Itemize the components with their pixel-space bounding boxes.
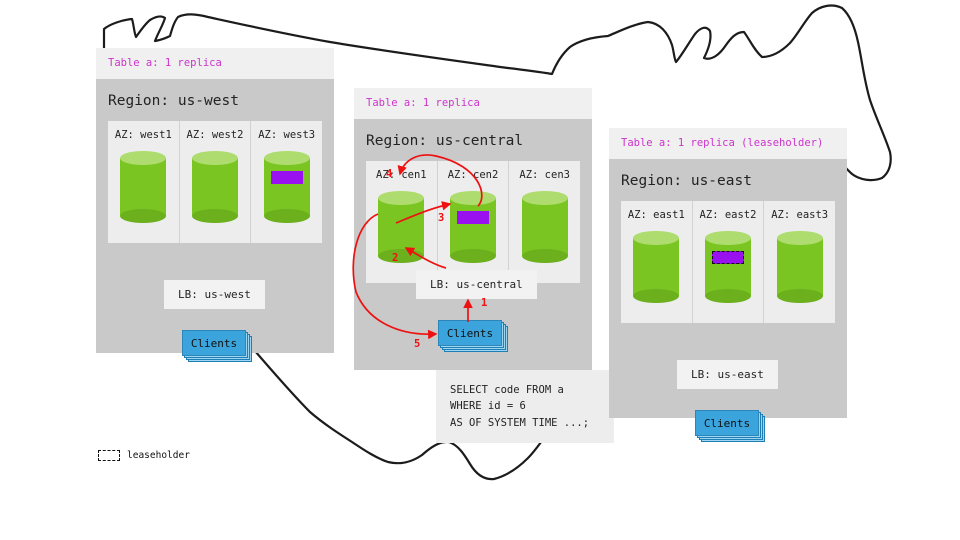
- lb-box-us-central[interactable]: LB: us-central: [416, 270, 537, 299]
- az-cell-east1[interactable]: AZ: east1: [621, 201, 693, 323]
- region-header-us-west: Table a: 1 replica: [96, 48, 334, 79]
- region-panel-us-east: Table a: 1 replica (leaseholder) Region:…: [609, 128, 847, 418]
- az-label-cen1: AZ: cen1: [376, 169, 427, 181]
- region-title-us-east: Region: us-east: [609, 159, 847, 201]
- replica-badge-cen2: [457, 211, 489, 224]
- az-cell-cen1[interactable]: AZ: cen1: [366, 161, 438, 283]
- region-header-us-east: Table a: 1 replica (leaseholder): [609, 128, 847, 159]
- region-header-us-central: Table a: 1 replica: [354, 88, 592, 119]
- leaseholder-badge-east2: [712, 251, 744, 264]
- node-cylinder-cen3[interactable]: [522, 191, 568, 263]
- flow-number-2: 2: [392, 252, 398, 264]
- az-cell-east3[interactable]: AZ: east3: [764, 201, 835, 323]
- node-cylinder-east1[interactable]: [633, 231, 679, 303]
- clients-label-us-central: Clients: [438, 320, 502, 346]
- legend-label: leaseholder: [127, 450, 190, 461]
- sql-query-box: SELECT code FROM a WHERE id = 6 AS OF SY…: [436, 370, 614, 443]
- az-label-cen3: AZ: cen3: [519, 169, 570, 181]
- az-strip-us-west: AZ: west1 AZ: west2 AZ: west3: [108, 121, 322, 243]
- flow-number-4: 4: [386, 168, 392, 180]
- clients-label-us-east: Clients: [695, 410, 759, 436]
- lb-box-us-east[interactable]: LB: us-east: [677, 360, 778, 389]
- legend-leaseholder: leaseholder: [98, 450, 190, 461]
- node-cylinder-east2[interactable]: [705, 231, 751, 303]
- region-panel-us-west: Table a: 1 replica Region: us-west AZ: w…: [96, 48, 334, 353]
- az-label-cen2: AZ: cen2: [448, 169, 499, 181]
- az-cell-east2[interactable]: AZ: east2: [693, 201, 765, 323]
- flow-number-3: 3: [438, 212, 444, 224]
- node-cylinder-west3[interactable]: [264, 151, 310, 223]
- az-label-east3: AZ: east3: [771, 209, 828, 221]
- node-cylinder-west1[interactable]: [120, 151, 166, 223]
- clients-us-central[interactable]: Clients: [438, 320, 502, 346]
- az-label-east2: AZ: east2: [700, 209, 757, 221]
- az-cell-west1[interactable]: AZ: west1: [108, 121, 180, 243]
- node-cylinder-cen2[interactable]: [450, 191, 496, 263]
- az-label-west1: AZ: west1: [115, 129, 172, 141]
- clients-label-us-west: Clients: [182, 330, 246, 356]
- az-strip-us-east: AZ: east1 AZ: east2 AZ: east3: [621, 201, 835, 323]
- flow-number-1: 1: [481, 297, 487, 309]
- region-title-us-west: Region: us-west: [96, 79, 334, 121]
- az-cell-cen3[interactable]: AZ: cen3: [509, 161, 580, 283]
- region-panel-us-central: Table a: 1 replica Region: us-central AZ…: [354, 88, 592, 370]
- clients-us-east[interactable]: Clients: [695, 410, 759, 436]
- az-cell-west3[interactable]: AZ: west3: [251, 121, 322, 243]
- replica-badge-west3: [271, 171, 303, 184]
- az-label-west2: AZ: west2: [187, 129, 244, 141]
- clients-us-west[interactable]: Clients: [182, 330, 246, 356]
- node-cylinder-cen1[interactable]: [378, 191, 424, 263]
- az-label-west3: AZ: west3: [258, 129, 315, 141]
- node-cylinder-east3[interactable]: [777, 231, 823, 303]
- az-cell-west2[interactable]: AZ: west2: [180, 121, 252, 243]
- az-label-east1: AZ: east1: [628, 209, 685, 221]
- flow-number-5: 5: [414, 338, 420, 350]
- region-title-us-central: Region: us-central: [354, 119, 592, 161]
- az-strip-us-central: AZ: cen1 AZ: cen2 AZ: cen3: [366, 161, 580, 283]
- node-cylinder-west2[interactable]: [192, 151, 238, 223]
- lb-box-us-west[interactable]: LB: us-west: [164, 280, 265, 309]
- dashed-rect-icon: [98, 450, 120, 461]
- diagram-canvas: Table a: 1 replica Region: us-west AZ: w…: [0, 0, 960, 540]
- az-cell-cen2[interactable]: AZ: cen2: [438, 161, 510, 283]
